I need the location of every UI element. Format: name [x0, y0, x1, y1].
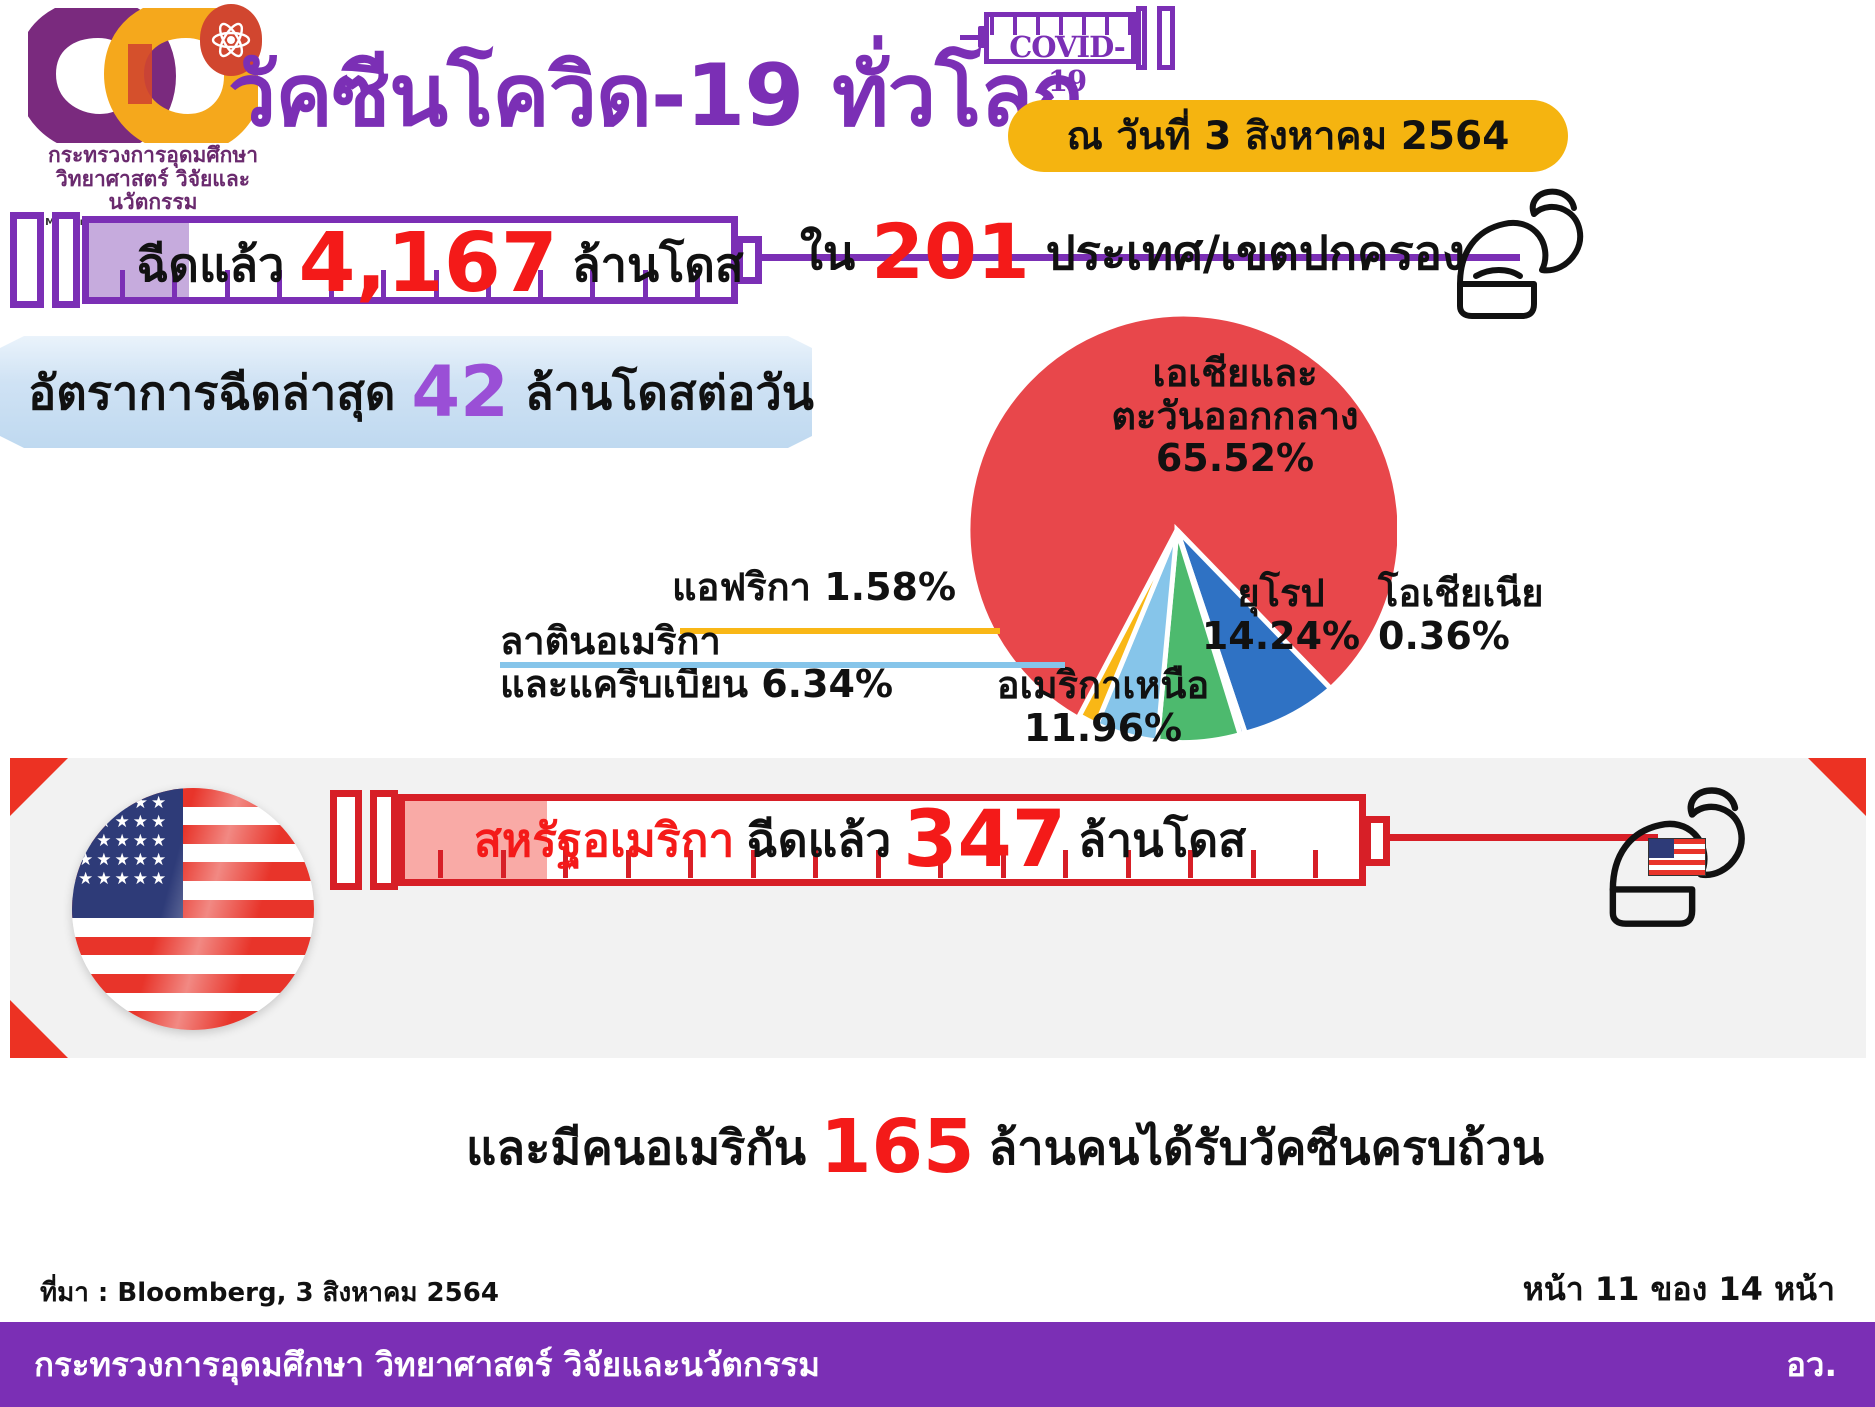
pie-label-europe: ยุโรป 14.24%	[1196, 572, 1366, 657]
footer-ministry-name: กระทรวงการอุดมศึกษา วิทยาศาสตร์ วิจัยและ…	[34, 1338, 820, 1391]
covid-syringe-label: COVID-19	[992, 30, 1142, 98]
pie-label-asia: เอเชียและ ตะวันออกกลาง 65.52%	[1095, 352, 1375, 480]
countries-prefix: ใน	[800, 215, 855, 290]
pie-label-oceania-percent: 0.36%	[1378, 615, 1608, 658]
covid-syringe-icon: COVID-19	[960, 4, 1190, 76]
pie-label-africa: แอฟริกา 1.58%	[672, 566, 962, 609]
pie-label-north-america-percent: 11.96%	[978, 707, 1228, 750]
pie-label-oceania: โอเชียเนีย 0.36%	[1378, 572, 1608, 657]
countries-count: ใน 201 ประเทศ/เขตปกครอง	[800, 216, 1465, 288]
countries-suffix: ประเทศ/เขตปกครอง	[1046, 215, 1465, 290]
pie-label-europe-percent: 14.24%	[1196, 615, 1366, 658]
ministry-name-line2: วิทยาศาสตร์ วิจัยและนวัตกรรม	[18, 168, 288, 215]
usa-panel-corner-top-left	[10, 758, 68, 816]
fully-vaccinated-prefix: และมีคนอเมริกัน	[466, 1110, 806, 1185]
footer-abbreviation: อว.	[1786, 1338, 1837, 1391]
us-flag-icon: ★★★★★★★★★★★★★★★★★★★★★★★★★	[72, 788, 314, 1030]
usa-doses-value: 347	[903, 805, 1066, 875]
doses-prefix: ฉีดแล้ว	[136, 227, 284, 302]
infographic-page: กระทรวงการอุดมศึกษา วิทยาศาสตร์ วิจัยและ…	[0, 0, 1875, 1407]
usa-panel-corner-bottom-left	[10, 1000, 68, 1058]
syringe-plunger-rod	[52, 212, 80, 308]
syringe-plunger-rod	[370, 790, 398, 890]
logo-mark	[28, 8, 258, 138]
rate-value: 42	[411, 361, 508, 424]
fully-vaccinated-suffix: ล้านคนได้รับวัคซีนครบถ้วน	[988, 1110, 1544, 1185]
arm-us-flag-patch-icon	[1648, 838, 1706, 876]
syringe-plunger-cap	[10, 212, 44, 308]
usa-country-name: สหรัฐอเมริกา	[474, 804, 735, 877]
usa-fully-vaccinated-text: และมีคนอเมริกัน 165 ล้านคนได้รับวัคซีนคร…	[330, 1112, 1680, 1182]
flexed-arm-icon	[1450, 180, 1600, 320]
pie-label-oceania-name: โอเชียเนีย	[1378, 572, 1608, 615]
syringe-plunger	[1157, 6, 1175, 70]
pie-label-latin-america-line1: ลาตินอเมริกา	[500, 620, 920, 663]
rate-suffix: ล้านโดสต่อวัน	[525, 355, 814, 430]
pie-label-latin-america-line2: และแคริบเบียน 6.34%	[500, 663, 920, 706]
date-badge: ณ วันที่ 3 สิงหาคม 2564	[1008, 100, 1568, 172]
doses-value: 4,167	[298, 227, 557, 301]
countries-value: 201	[871, 218, 1030, 286]
global-doses-text: ฉีดแล้ว 4,167 ล้านโดส	[140, 228, 740, 300]
pie-label-north-america-name: อเมริกาเหนือ	[978, 664, 1228, 707]
flag-gloss	[72, 788, 314, 1030]
usa-doses-text: สหรัฐอเมริกา ฉีดแล้ว 347 ล้านโดส	[430, 802, 1290, 878]
pie-label-europe-name: ยุโรป	[1196, 572, 1366, 615]
pie-label-asia-line1: เอเชียและ	[1095, 352, 1375, 395]
page-number: หน้า 11 ของ 14 หน้า	[1523, 1264, 1835, 1315]
source-note: ที่มา : Bloomberg, 3 สิงหาคม 2564	[40, 1272, 499, 1313]
doses-suffix: ล้านโดส	[572, 227, 744, 302]
page-title: วัคซีนโควิด-19 ทั่วโลก	[228, 26, 1083, 163]
syringe-nozzle	[1364, 816, 1390, 866]
fully-vaccinated-value: 165	[820, 1114, 974, 1181]
usa-doses-suffix: ล้านโดส	[1078, 804, 1246, 877]
pie-leader-line-latin-america	[500, 662, 1065, 668]
usa-panel-corner-top-right	[1808, 758, 1866, 816]
syringe-plunger-cap	[330, 790, 362, 890]
daily-rate-text: อัตราการฉีดล่าสุด 42 ล้านโดสต่อวัน	[28, 352, 788, 432]
pie-label-asia-percent: 65.52%	[1095, 437, 1375, 480]
usa-doses-prefix: ฉีดแล้ว	[746, 804, 891, 877]
pie-label-north-america: อเมริกาเหนือ 11.96%	[978, 664, 1228, 749]
rate-prefix: อัตราการฉีดล่าสุด	[28, 355, 395, 430]
footer-bar: กระทรวงการอุดมศึกษา วิทยาศาสตร์ วิจัยและ…	[0, 1322, 1875, 1407]
pie-label-asia-line2: ตะวันออกกลาง	[1095, 395, 1375, 438]
